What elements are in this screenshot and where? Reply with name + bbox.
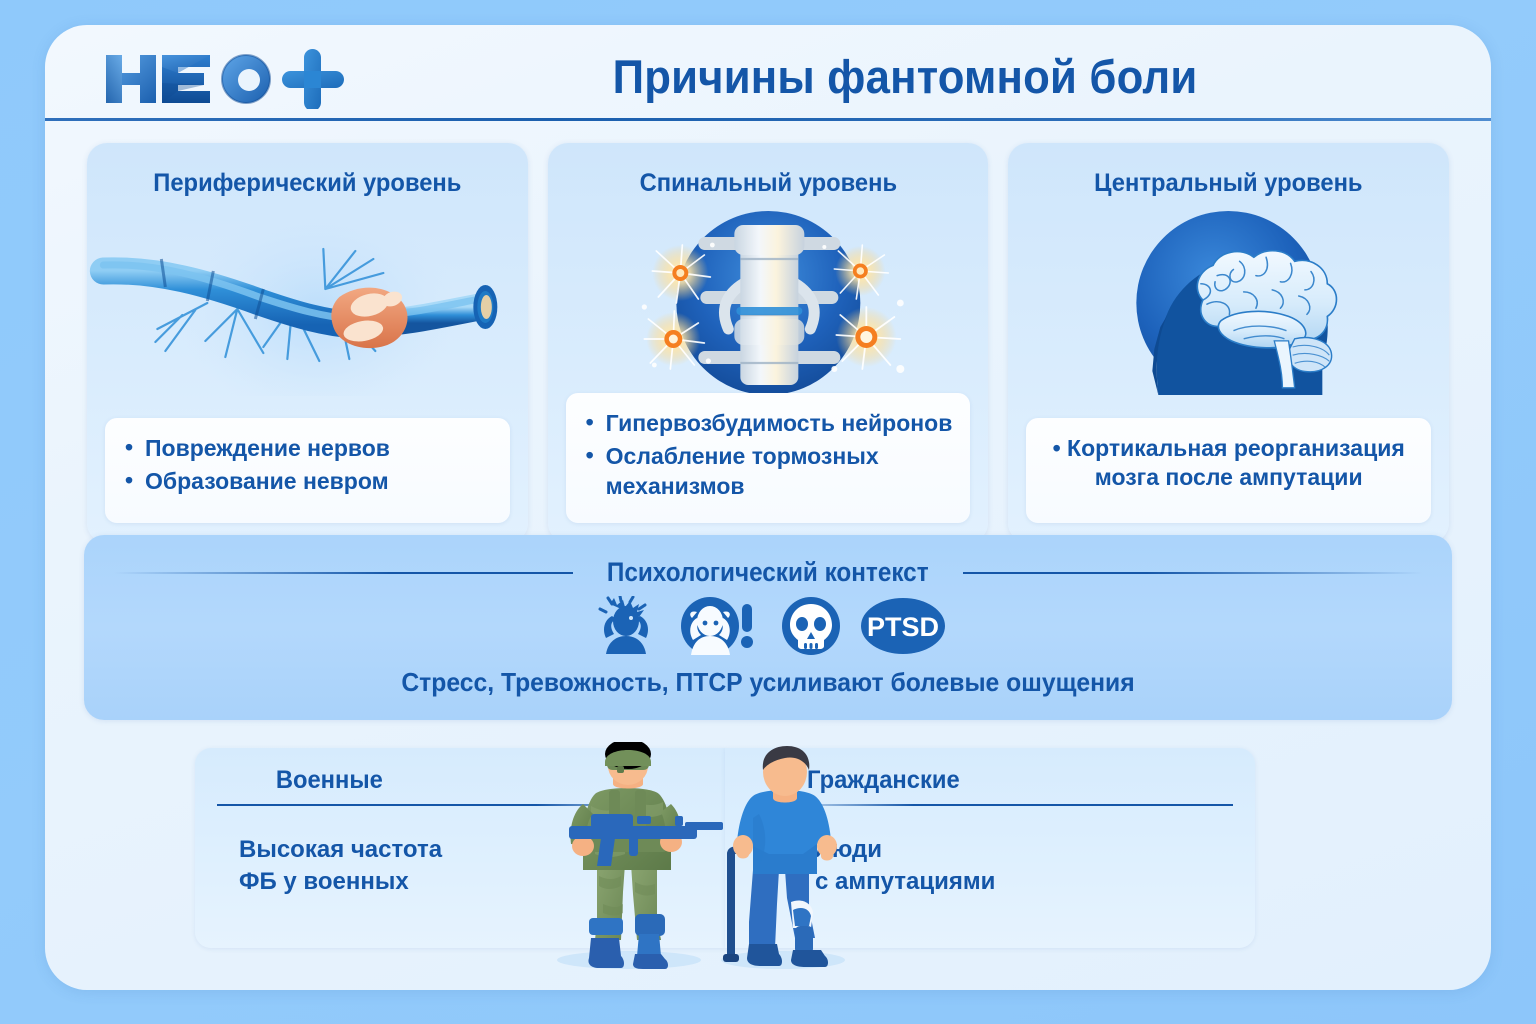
psych-icon-row: PTSD xyxy=(84,597,1452,659)
neo-plus-logo-icon xyxy=(100,47,380,109)
card-title: Периферический уровень xyxy=(98,169,517,198)
bullet-dot: • xyxy=(1053,435,1067,461)
military-group[interactable]: Военные Высокая частота ФБ у военных xyxy=(195,748,725,948)
skull-icon xyxy=(780,596,842,661)
card-central-level[interactable]: Центральный уровень xyxy=(1008,143,1449,543)
header-divider xyxy=(45,118,1491,121)
stressed-person-icon xyxy=(590,596,662,661)
card-title: Спинальный уровень xyxy=(559,169,978,198)
card-spinal-level[interactable]: Спинальный уровень xyxy=(548,143,989,543)
card-peripheral-level[interactable]: Периферический уровень xyxy=(87,143,528,543)
bullet-item: Повреждение нервов xyxy=(123,434,492,463)
card-title: Центральный уровень xyxy=(1019,169,1438,198)
psych-heading: Психологический контекст xyxy=(607,557,929,588)
bullet-item: Ослабление тормозных механизмов xyxy=(584,442,953,501)
ptsd-badge-icon: PTSD xyxy=(860,596,946,661)
bullet-item: Образование невром xyxy=(123,467,492,496)
bullet-item: Гипервозбудимость нейронов xyxy=(584,409,953,438)
header: Причины фантомной боли xyxy=(45,25,1491,118)
poster-panel: Причины фантомной боли Периферический ур… xyxy=(45,25,1491,990)
card-bullets: • Кортикальная реорганизация мозга после… xyxy=(1026,418,1431,523)
psych-heading-row: Психологический контекст xyxy=(114,557,1422,588)
ptsd-label: PTSD xyxy=(867,612,939,642)
card-bullets: Повреждение нервов Образование невром xyxy=(105,418,510,523)
bullet-item: • Кортикальная реорганизация мозга после… xyxy=(1044,434,1413,493)
nerve-damage-icon xyxy=(87,211,528,396)
page-title: Причины фантомной боли xyxy=(412,45,1398,107)
card-bullets: Гипервозбудимость нейронов Ослабление то… xyxy=(566,393,971,523)
divider-right xyxy=(963,572,1422,574)
psych-caption: Стресс, Тревожность, ПТСР усиливают боле… xyxy=(118,667,1418,698)
brain-head-icon xyxy=(1008,211,1449,396)
psychological-context-panel: Психологический контекст xyxy=(84,535,1452,720)
military-label: Военные xyxy=(276,766,383,795)
bullet-text: Кортикальная реорганизация мозга после а… xyxy=(1067,435,1405,490)
civilian-figure xyxy=(691,742,871,970)
anxious-person-exclamation-icon xyxy=(680,596,762,661)
audience-comparison: Военные Высокая частота ФБ у военных xyxy=(195,748,1255,948)
spinal-cord-neurons-icon xyxy=(548,211,989,396)
civilian-group[interactable]: Гражданские Люди с ампутациями xyxy=(725,748,1255,948)
divider-left xyxy=(114,572,573,574)
military-text: Высокая частота ФБ у военных xyxy=(239,834,442,899)
brand-logo xyxy=(100,47,380,109)
military-text-line2: ФБ у военных xyxy=(239,866,442,898)
levels-card-group: Периферический уровень xyxy=(87,143,1449,543)
cane-icon xyxy=(723,847,743,963)
military-text-line1: Высокая частота xyxy=(239,834,442,866)
